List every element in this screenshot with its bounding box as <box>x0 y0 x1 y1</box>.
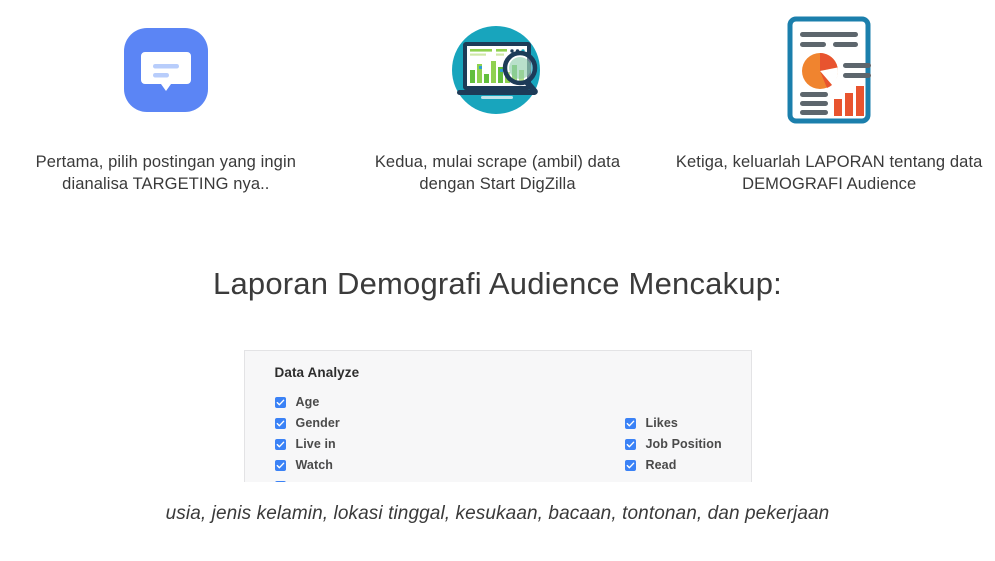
analyze-panel-container: Data Analyze Age Gender <box>0 302 995 482</box>
chat-bubble-icon <box>124 28 208 112</box>
step-3-icon-wrap <box>787 10 871 130</box>
step-1-icon-wrap <box>124 10 208 130</box>
checkbox-row-age[interactable]: Age <box>275 392 340 413</box>
steps-row: Pertama, pilih postingan yang ingin dian… <box>0 0 995 196</box>
checkbox-label: Likes <box>646 416 678 430</box>
checkbox-checked-icon[interactable] <box>625 418 636 429</box>
checkbox-row-read[interactable]: Read <box>625 455 722 476</box>
checkbox-label: Job Position <box>646 437 722 451</box>
checkbox-checked-icon[interactable] <box>275 460 286 471</box>
checkbox-row-live-in[interactable]: Live in <box>275 434 340 455</box>
step-2-icon-wrap <box>448 10 548 130</box>
analyze-columns: Age Gender Live in <box>275 392 751 482</box>
checkbox-row-gender[interactable]: Gender <box>275 413 340 434</box>
analytics-search-icon <box>448 20 548 120</box>
checkbox-checked-icon[interactable] <box>625 439 636 450</box>
checkbox-checked-icon[interactable] <box>625 460 636 471</box>
data-analyze-title: Data Analyze <box>275 365 751 380</box>
step-1-caption: Pertama, pilih postingan yang ingin dian… <box>10 130 322 196</box>
checkbox-row-likes[interactable]: Likes <box>625 413 722 434</box>
analyze-column-right: Likes Job Position Read <box>625 413 722 476</box>
checkbox-row-cutoff[interactable] <box>275 476 340 482</box>
checkbox-label: Gender <box>296 416 340 430</box>
step-3-caption: Ketiga, keluarlah LAPORAN tentang data D… <box>669 130 989 196</box>
data-analyze-panel: Data Analyze Age Gender <box>244 350 752 482</box>
checkbox-checked-icon[interactable] <box>275 481 286 482</box>
checkbox-label: Live in <box>296 437 336 451</box>
checkbox-label: Age <box>296 395 320 409</box>
bottom-caption: usia, jenis kelamin, lokasi tinggal, kes… <box>0 482 995 525</box>
checkbox-checked-icon[interactable] <box>275 418 286 429</box>
step-3: Ketiga, keluarlah LAPORAN tentang data D… <box>663 10 995 196</box>
step-2: Kedua, mulai scrape (ambil) data dengan … <box>332 10 664 196</box>
checkbox-row-job-position[interactable]: Job Position <box>625 434 722 455</box>
page-title: Laporan Demografi Audience Mencakup: <box>0 196 995 302</box>
checkbox-checked-icon[interactable] <box>275 397 286 408</box>
step-1: Pertama, pilih postingan yang ingin dian… <box>0 10 332 196</box>
checkbox-label: Watch <box>296 458 334 472</box>
step-2-caption: Kedua, mulai scrape (ambil) data dengan … <box>348 130 648 196</box>
checkbox-row-watch[interactable]: Watch <box>275 455 340 476</box>
analyze-column-left: Age Gender Live in <box>275 392 340 482</box>
checkbox-label: Read <box>646 458 677 472</box>
report-document-icon <box>787 16 871 124</box>
checkbox-checked-icon[interactable] <box>275 439 286 450</box>
